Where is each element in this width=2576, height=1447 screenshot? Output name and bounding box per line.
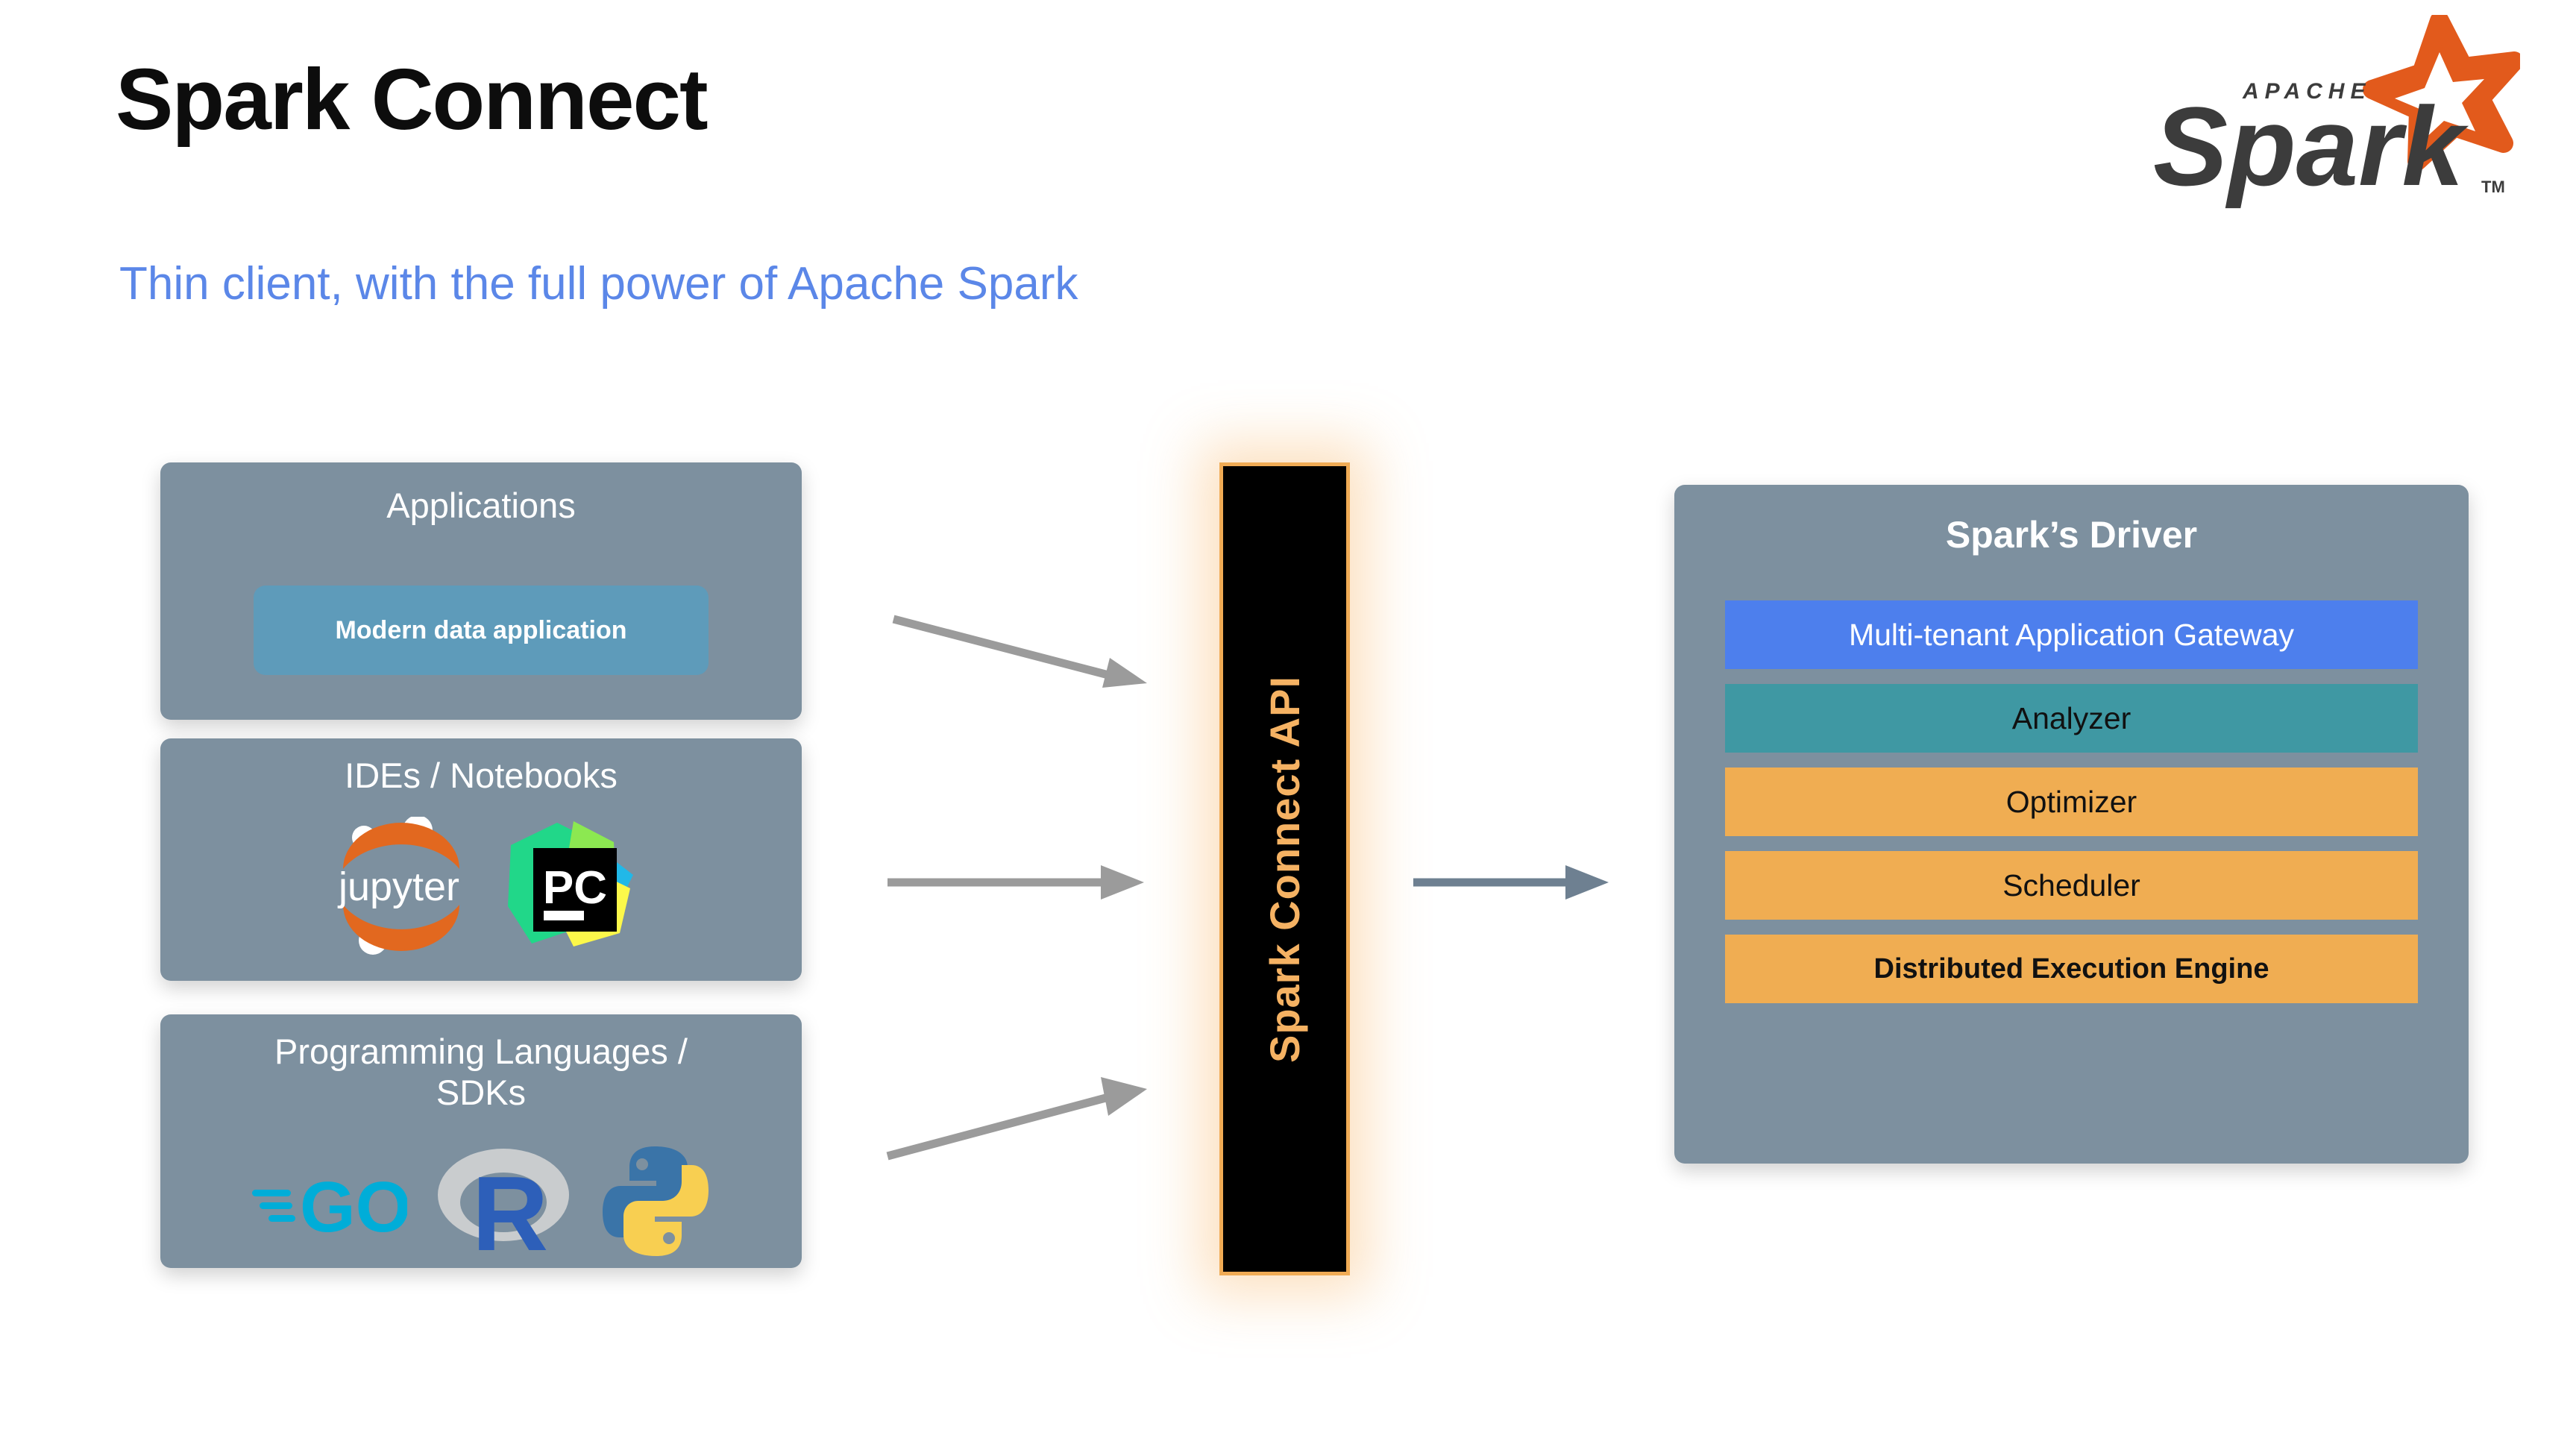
arrow-ides-to-api [888, 847, 1171, 914]
ide-logo-row: jupyter PC [160, 817, 802, 955]
arrow-api-to-driver [1413, 847, 1622, 914]
arrow-languages-to-api [888, 1044, 1171, 1164]
panel-applications-title: Applications [160, 485, 802, 526]
go-logo: GO [251, 1160, 407, 1242]
spark-connect-api-bar[interactable]: Spark Connect API [1219, 462, 1350, 1275]
modern-data-application-box[interactable]: Modern data application [254, 586, 709, 675]
panel-programming-languages[interactable]: Programming Languages / SDKs GO R [160, 1014, 802, 1268]
driver-component-gateway[interactable]: Multi-tenant Application Gateway [1725, 600, 2418, 669]
panel-ides-title: IDEs / Notebooks [160, 755, 802, 796]
jupyter-logo-text: jupyter [336, 864, 459, 909]
apache-spark-logo: APACHE Spark TM [2147, 15, 2520, 216]
driver-component-analyzer[interactable]: Analyzer [1725, 684, 2418, 753]
spark-wordmark-text: Spark [2153, 84, 2469, 209]
panel-ides-notebooks[interactable]: IDEs / Notebooks jupyter PC [160, 738, 802, 981]
jupyter-logo: jupyter [327, 817, 472, 955]
spark-connect-api-label: Spark Connect API [1260, 675, 1309, 1062]
go-logo-text: GO [300, 1167, 407, 1242]
page-subtitle: Thin client, with the full power of Apac… [119, 261, 1078, 307]
driver-component-execution-engine[interactable]: Distributed Execution Engine [1725, 935, 2418, 1003]
language-logo-row: GO R [160, 1141, 802, 1261]
panel-sparks-driver[interactable]: Spark’s Driver Multi-tenant Application … [1674, 485, 2469, 1164]
panel-driver-title: Spark’s Driver [1674, 513, 2469, 557]
trademark-text: TM [2481, 178, 2505, 196]
r-logo: R [433, 1141, 574, 1261]
pycharm-logo: PC [502, 817, 636, 955]
r-logo-text: R [472, 1155, 549, 1261]
driver-component-optimizer[interactable]: Optimizer [1725, 768, 2418, 836]
arrow-applications-to-api [888, 612, 1171, 709]
panel-applications[interactable]: Applications Modern data application [160, 462, 802, 720]
pycharm-pc-text: PC [542, 862, 606, 914]
panel-languages-title: Programming Languages / SDKs [160, 1031, 802, 1114]
driver-component-scheduler[interactable]: Scheduler [1725, 851, 2418, 920]
driver-component-stack: Multi-tenant Application Gateway Analyze… [1725, 600, 2418, 1003]
python-logo [600, 1143, 711, 1259]
page-title: Spark Connect [116, 56, 707, 142]
